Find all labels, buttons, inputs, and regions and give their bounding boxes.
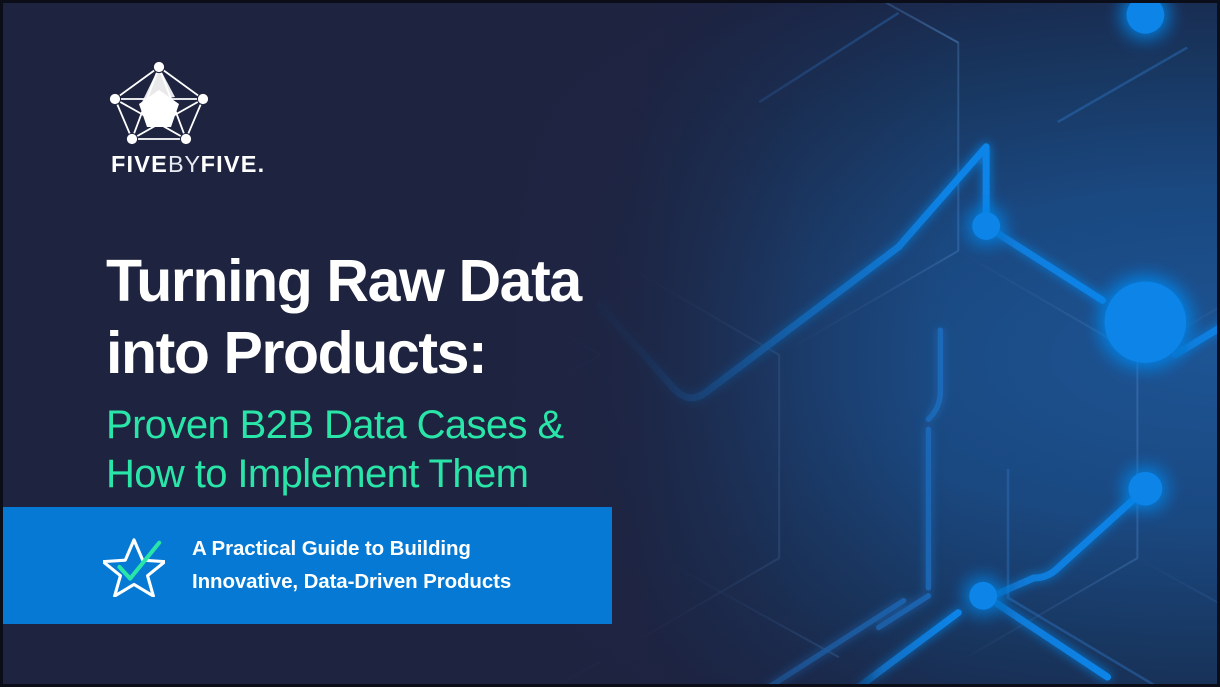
- headline-line-2: into Products:: [106, 317, 746, 390]
- brand-wordmark: FIVEBYFIVE.: [111, 153, 257, 177]
- banner-text: A Practical Guide to Building Innovative…: [192, 533, 511, 598]
- star-check-icon: [103, 535, 165, 597]
- subheadline-line-2: How to Implement Them: [106, 450, 726, 499]
- headline-line-1: Turning Raw Data: [106, 245, 746, 318]
- wordmark-by: BY: [168, 151, 201, 177]
- pentagon-network-logo-icon: [107, 59, 211, 147]
- banner-line-1: A Practical Guide to Building: [192, 533, 511, 565]
- wordmark-five-last: FIVE: [201, 151, 258, 177]
- page-title: Turning Raw Data into Products:: [106, 245, 746, 390]
- subheadline-line-1: Proven B2B Data Cases &: [106, 401, 726, 450]
- banner-line-2: Innovative, Data-Driven Products: [192, 566, 511, 598]
- bottom-banner: A Practical Guide to Building Innovative…: [3, 507, 612, 624]
- presentation-slide: FIVEBYFIVE. Turning Raw Data into Produc…: [0, 0, 1220, 687]
- brand-logo: FIVEBYFIVE.: [107, 59, 257, 177]
- wordmark-dot: .: [258, 151, 266, 177]
- wordmark-five-first: FIVE: [111, 151, 168, 177]
- page-subtitle: Proven B2B Data Cases & How to Implement…: [106, 401, 726, 499]
